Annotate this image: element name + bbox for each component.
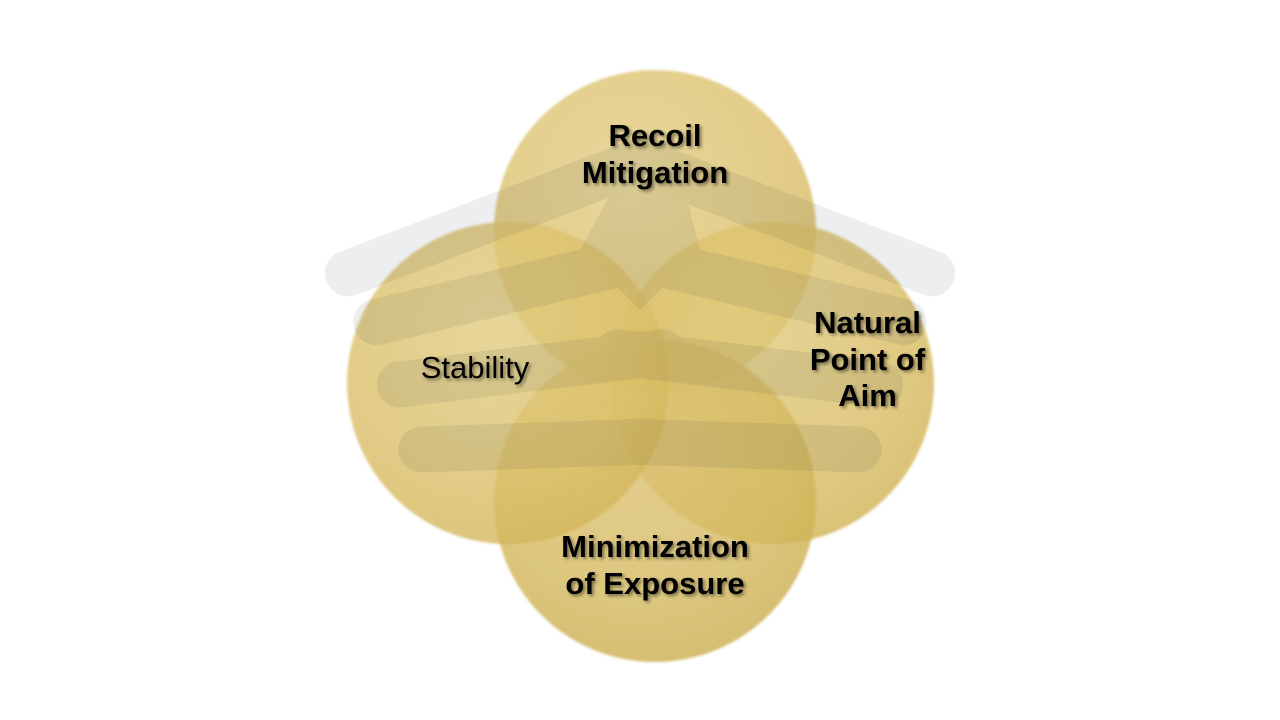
venn-label-recoil-mitigation: Recoil Mitigation	[505, 118, 805, 191]
venn-label-natural-point-of-aim: Natural Point of Aim	[775, 305, 960, 415]
venn-label-stability: Stability	[355, 350, 595, 387]
slide-canvas: Recoil Mitigation Natural Point of Aim M…	[0, 0, 1280, 720]
venn-diagram	[0, 0, 1280, 720]
venn-label-minimization-of-exposure: Minimization of Exposure	[495, 529, 815, 602]
